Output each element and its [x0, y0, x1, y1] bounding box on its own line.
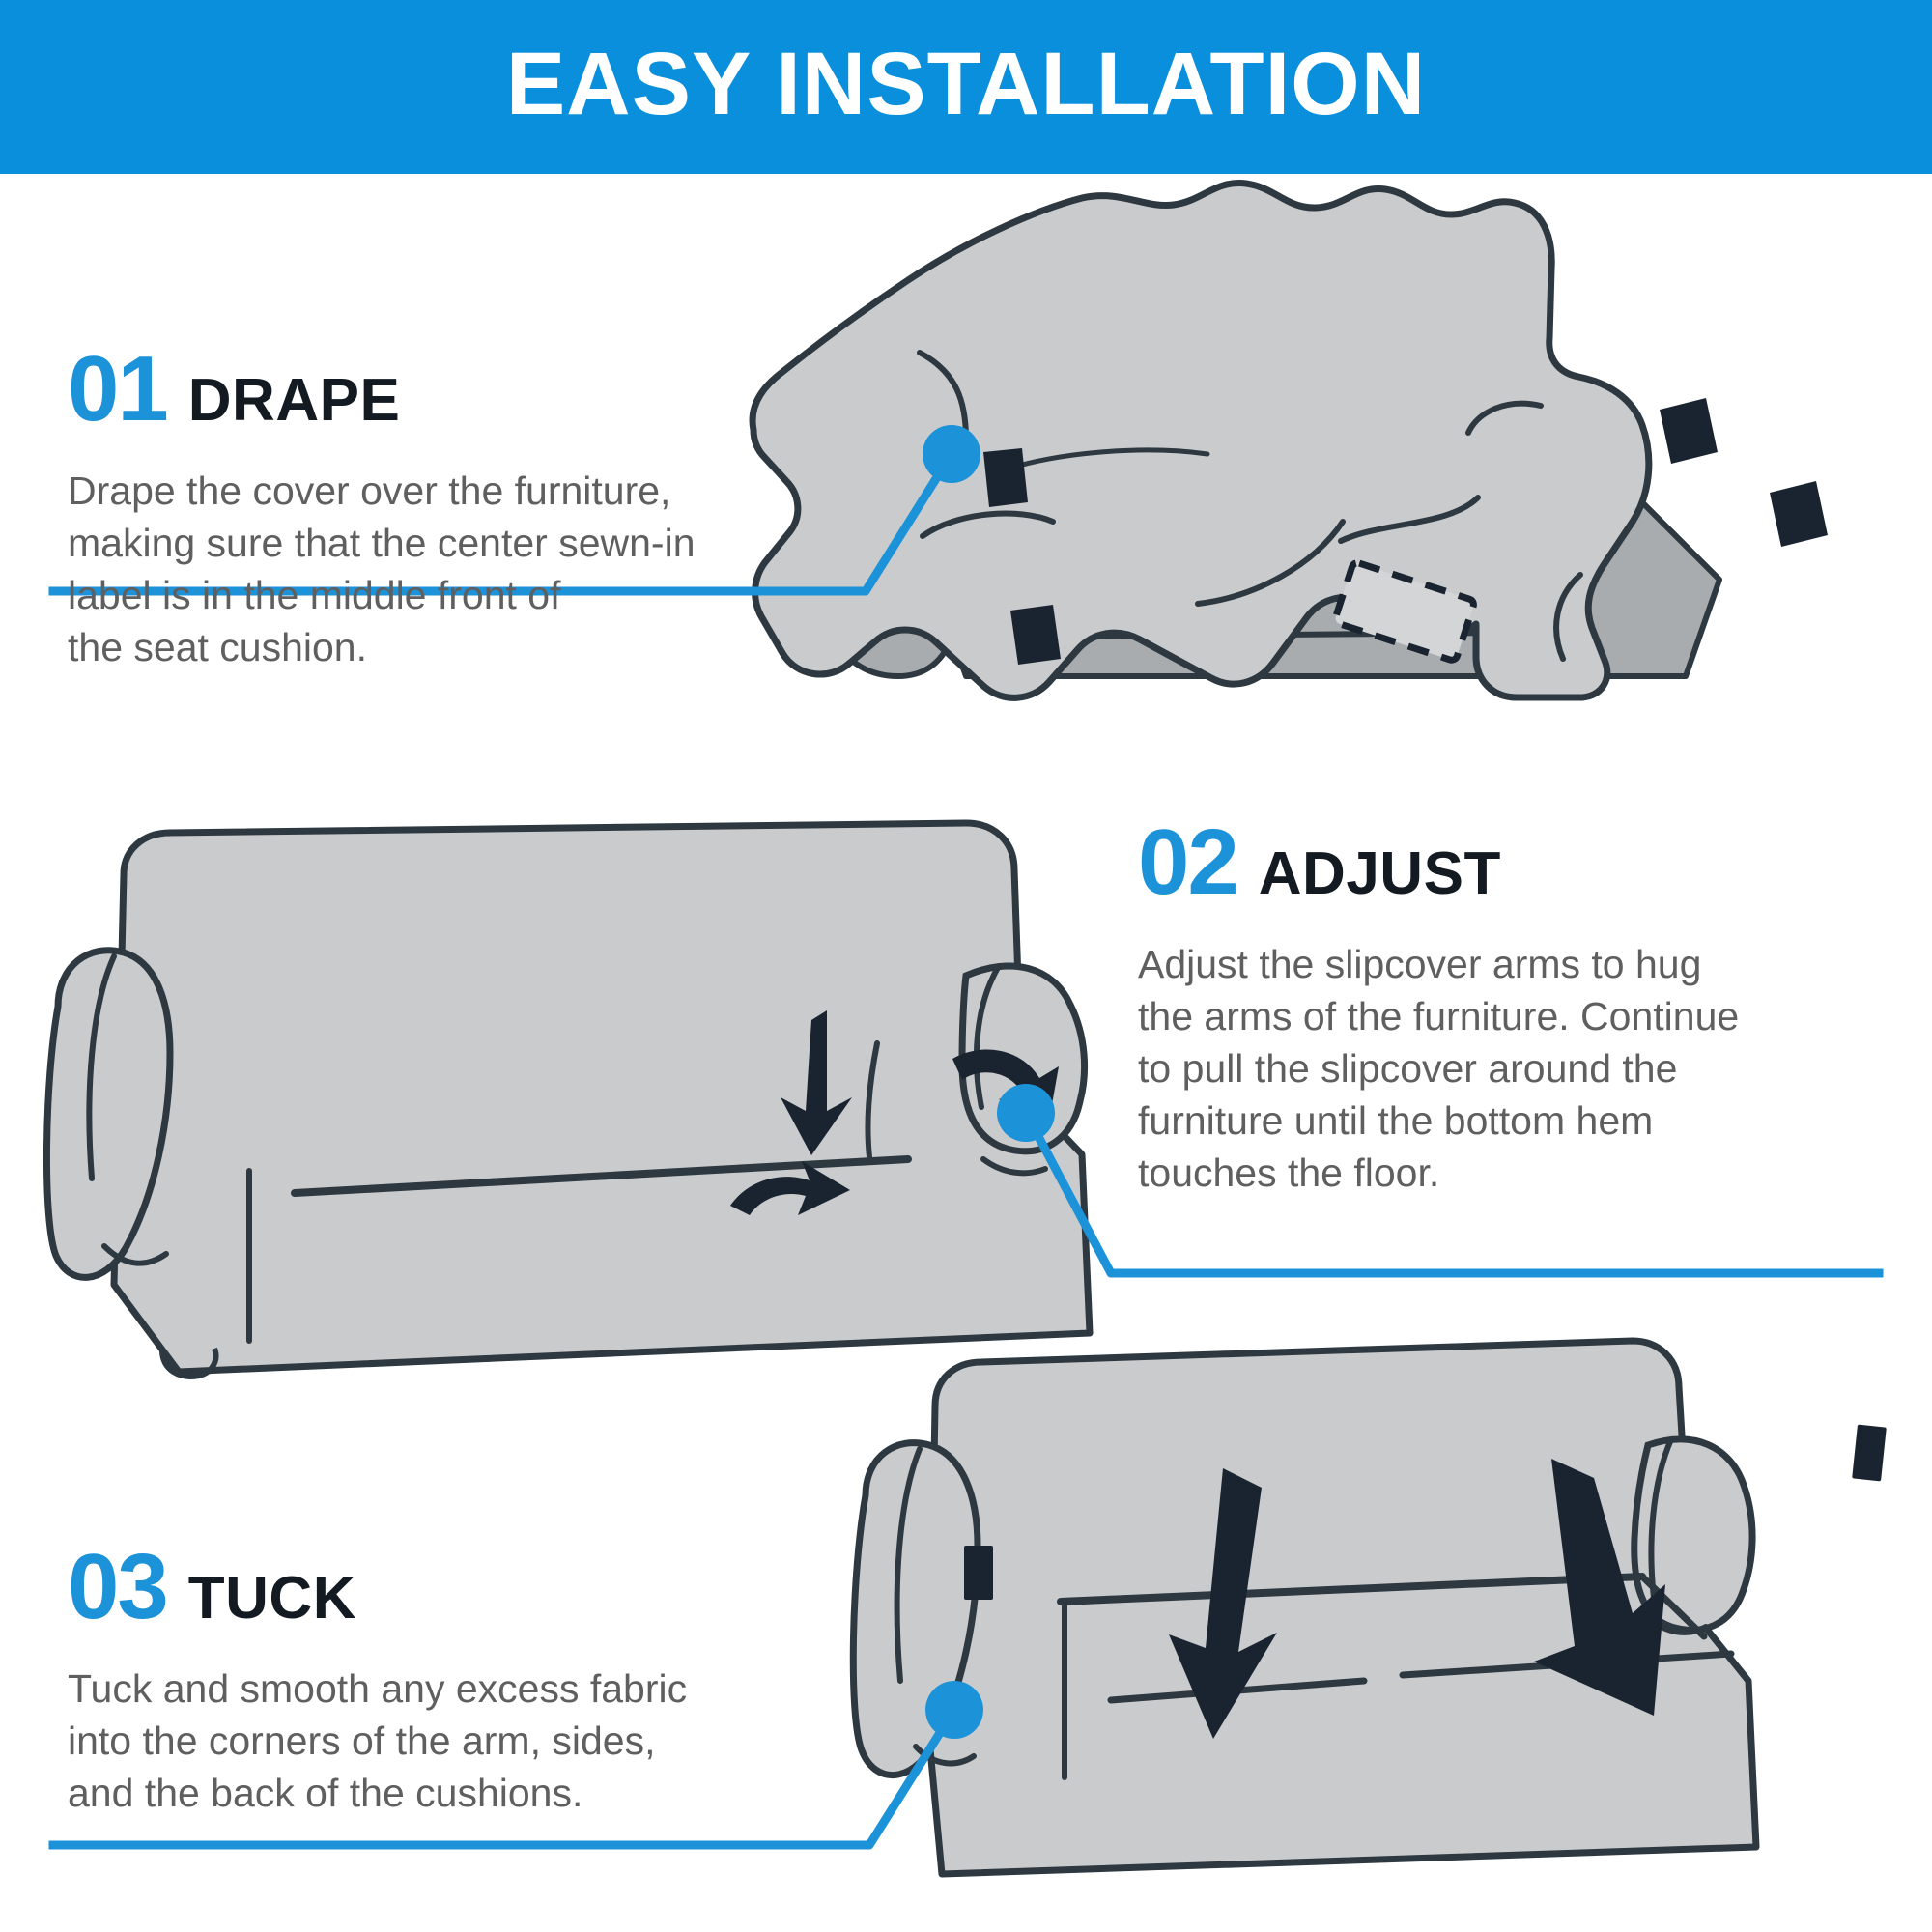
- tuck-arrow-down-large-icon: [1169, 1468, 1277, 1739]
- step-number-3: 03: [68, 1541, 167, 1634]
- tuck-arrow-down-icon: [781, 1010, 852, 1155]
- step-block-3: 03 TUCK Tuck and smooth any excess fabri…: [68, 1541, 840, 1819]
- step-label-1: DRAPE: [188, 371, 401, 431]
- step-number-2: 02: [1138, 816, 1237, 909]
- sewn-in-label-marker: [1334, 561, 1475, 662]
- tuck-arrow-down-right-large-icon: [1534, 1459, 1665, 1716]
- callout-dot-step-2: [997, 1084, 1055, 1142]
- callout-dot-step-3: [925, 1681, 983, 1739]
- fabric-tab-icon: [1010, 605, 1061, 665]
- fabric-tab-icon: [983, 448, 1028, 507]
- fabric-tab-icon: [1770, 481, 1828, 547]
- fabric-tab-icon: [1852, 1425, 1887, 1482]
- page-title: EASY INSTALLATION: [506, 40, 1426, 128]
- step-body-3: Tuck and smooth any excess fabric into t…: [68, 1662, 840, 1819]
- header-banner: EASY INSTALLATION: [0, 0, 1932, 174]
- callout-dot-step-1: [923, 425, 980, 483]
- step-body-1: Drape the cover over the furniture, maki…: [68, 465, 869, 673]
- step-body-2: Adjust the slipcover arms to hug the arm…: [1138, 938, 1901, 1200]
- step-number-1: 01: [68, 343, 167, 436]
- draped-sofa-illustration: [753, 184, 1828, 698]
- infographic-page: EASY INSTALLATION: [0, 0, 1932, 1932]
- tuck-arrow-curve-left-icon: [730, 1161, 850, 1215]
- step-heading-1: 01 DRAPE: [68, 343, 869, 436]
- step-label-2: ADJUST: [1259, 844, 1501, 904]
- tuck-sofa-illustration: [853, 1341, 1887, 1874]
- step-heading-2: 02 ADJUST: [1138, 816, 1901, 909]
- step-heading-3: 03 TUCK: [68, 1541, 840, 1634]
- fabric-tab-icon: [964, 1546, 993, 1600]
- step-block-1: 01 DRAPE Drape the cover over the furnit…: [68, 343, 869, 673]
- step-block-2: 02 ADJUST Adjust the slipcover arms to h…: [1138, 816, 1901, 1200]
- fabric-tab-icon: [1660, 398, 1718, 464]
- tuck-arrow-curve-right-icon: [952, 1049, 1059, 1121]
- step-label-3: TUCK: [188, 1569, 356, 1629]
- adjust-sofa-illustration: [46, 823, 1090, 1377]
